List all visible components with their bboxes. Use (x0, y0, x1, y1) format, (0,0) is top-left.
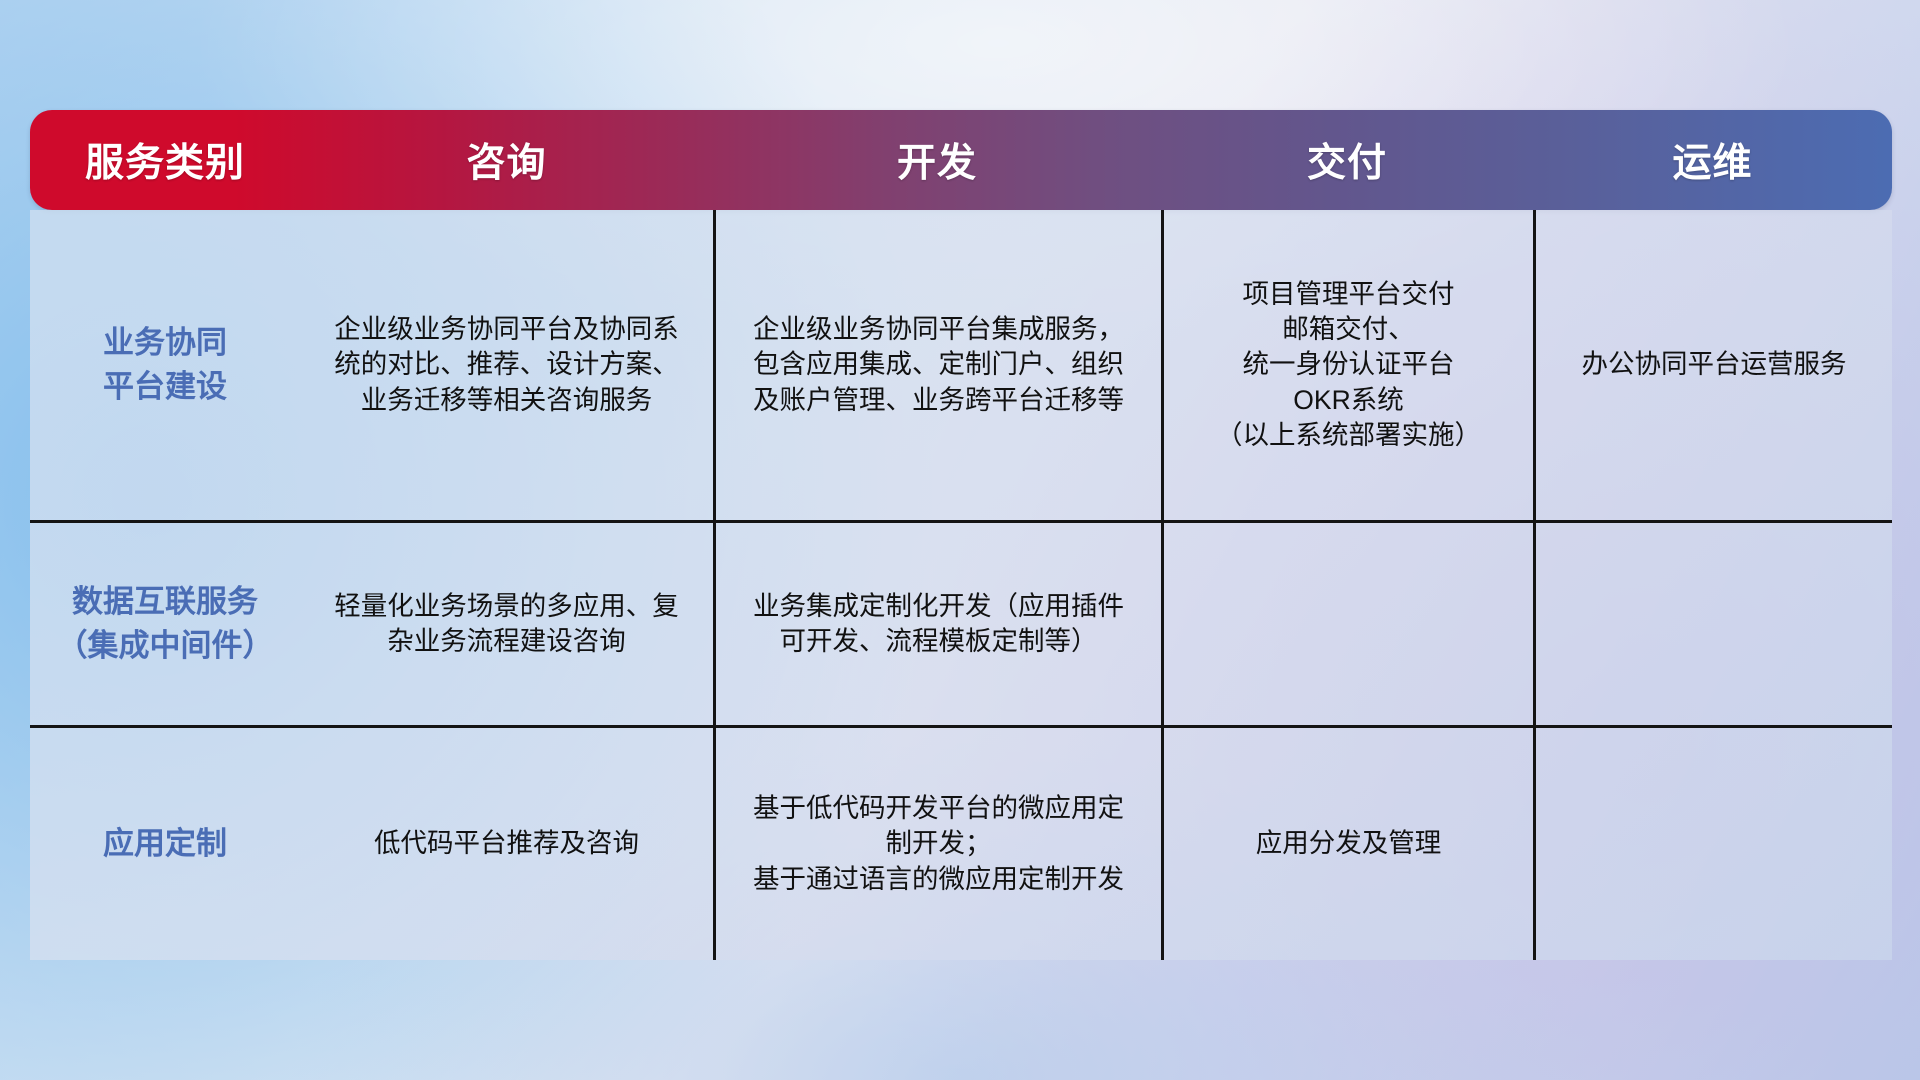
cell-operations (1533, 523, 1892, 725)
cell-development: 基于低代码开发平台的微应用定 制开发； 基于通过语言的微应用定制开发 (713, 728, 1161, 960)
cell-development: 企业级业务协同平台集成服务， 包含应用集成、定制门户、组织 及账户管理、业务跨平… (713, 210, 1161, 520)
service-matrix-table: 服务类别 咨询 开发 交付 运维 业务协同 平台建设 企业级业务协同平台及协同系… (30, 110, 1892, 960)
cell-operations (1533, 728, 1892, 960)
cell-category: 数据互联服务 （集成中间件） (30, 523, 300, 725)
table-row: 业务协同 平台建设 企业级业务协同平台及协同系 统的对比、推荐、设计方案、 业务… (30, 210, 1892, 520)
cell-category: 业务协同 平台建设 (30, 210, 300, 520)
cell-delivery: 应用分发及管理 (1161, 728, 1533, 960)
table-body: 业务协同 平台建设 企业级业务协同平台及协同系 统的对比、推荐、设计方案、 业务… (30, 210, 1892, 960)
cell-consulting: 低代码平台推荐及咨询 (300, 728, 713, 960)
header-cell-development: 开发 (713, 132, 1161, 188)
cell-category: 应用定制 (30, 728, 300, 960)
table-row: 应用定制 低代码平台推荐及咨询 基于低代码开发平台的微应用定 制开发； 基于通过… (30, 725, 1892, 960)
header-cell-service-category: 服务类别 (30, 132, 300, 188)
cell-development: 业务集成定制化开发（应用插件 可开发、流程模板定制等） (713, 523, 1161, 725)
header-cell-delivery: 交付 (1161, 132, 1533, 188)
header-cell-consulting: 咨询 (300, 132, 713, 188)
cell-operations: 办公协同平台运营服务 (1533, 210, 1892, 520)
header-cell-operations: 运维 (1533, 132, 1892, 188)
cell-delivery: 项目管理平台交付 邮箱交付、 统一身份认证平台 OKR系统 （以上系统部署实施） (1161, 210, 1533, 520)
cell-consulting: 企业级业务协同平台及协同系 统的对比、推荐、设计方案、 业务迁移等相关咨询服务 (300, 210, 713, 520)
cell-consulting: 轻量化业务场景的多应用、复 杂业务流程建设咨询 (300, 523, 713, 725)
table-row: 数据互联服务 （集成中间件） 轻量化业务场景的多应用、复 杂业务流程建设咨询 业… (30, 520, 1892, 725)
table-header-row: 服务类别 咨询 开发 交付 运维 (30, 110, 1892, 210)
cell-delivery (1161, 523, 1533, 725)
